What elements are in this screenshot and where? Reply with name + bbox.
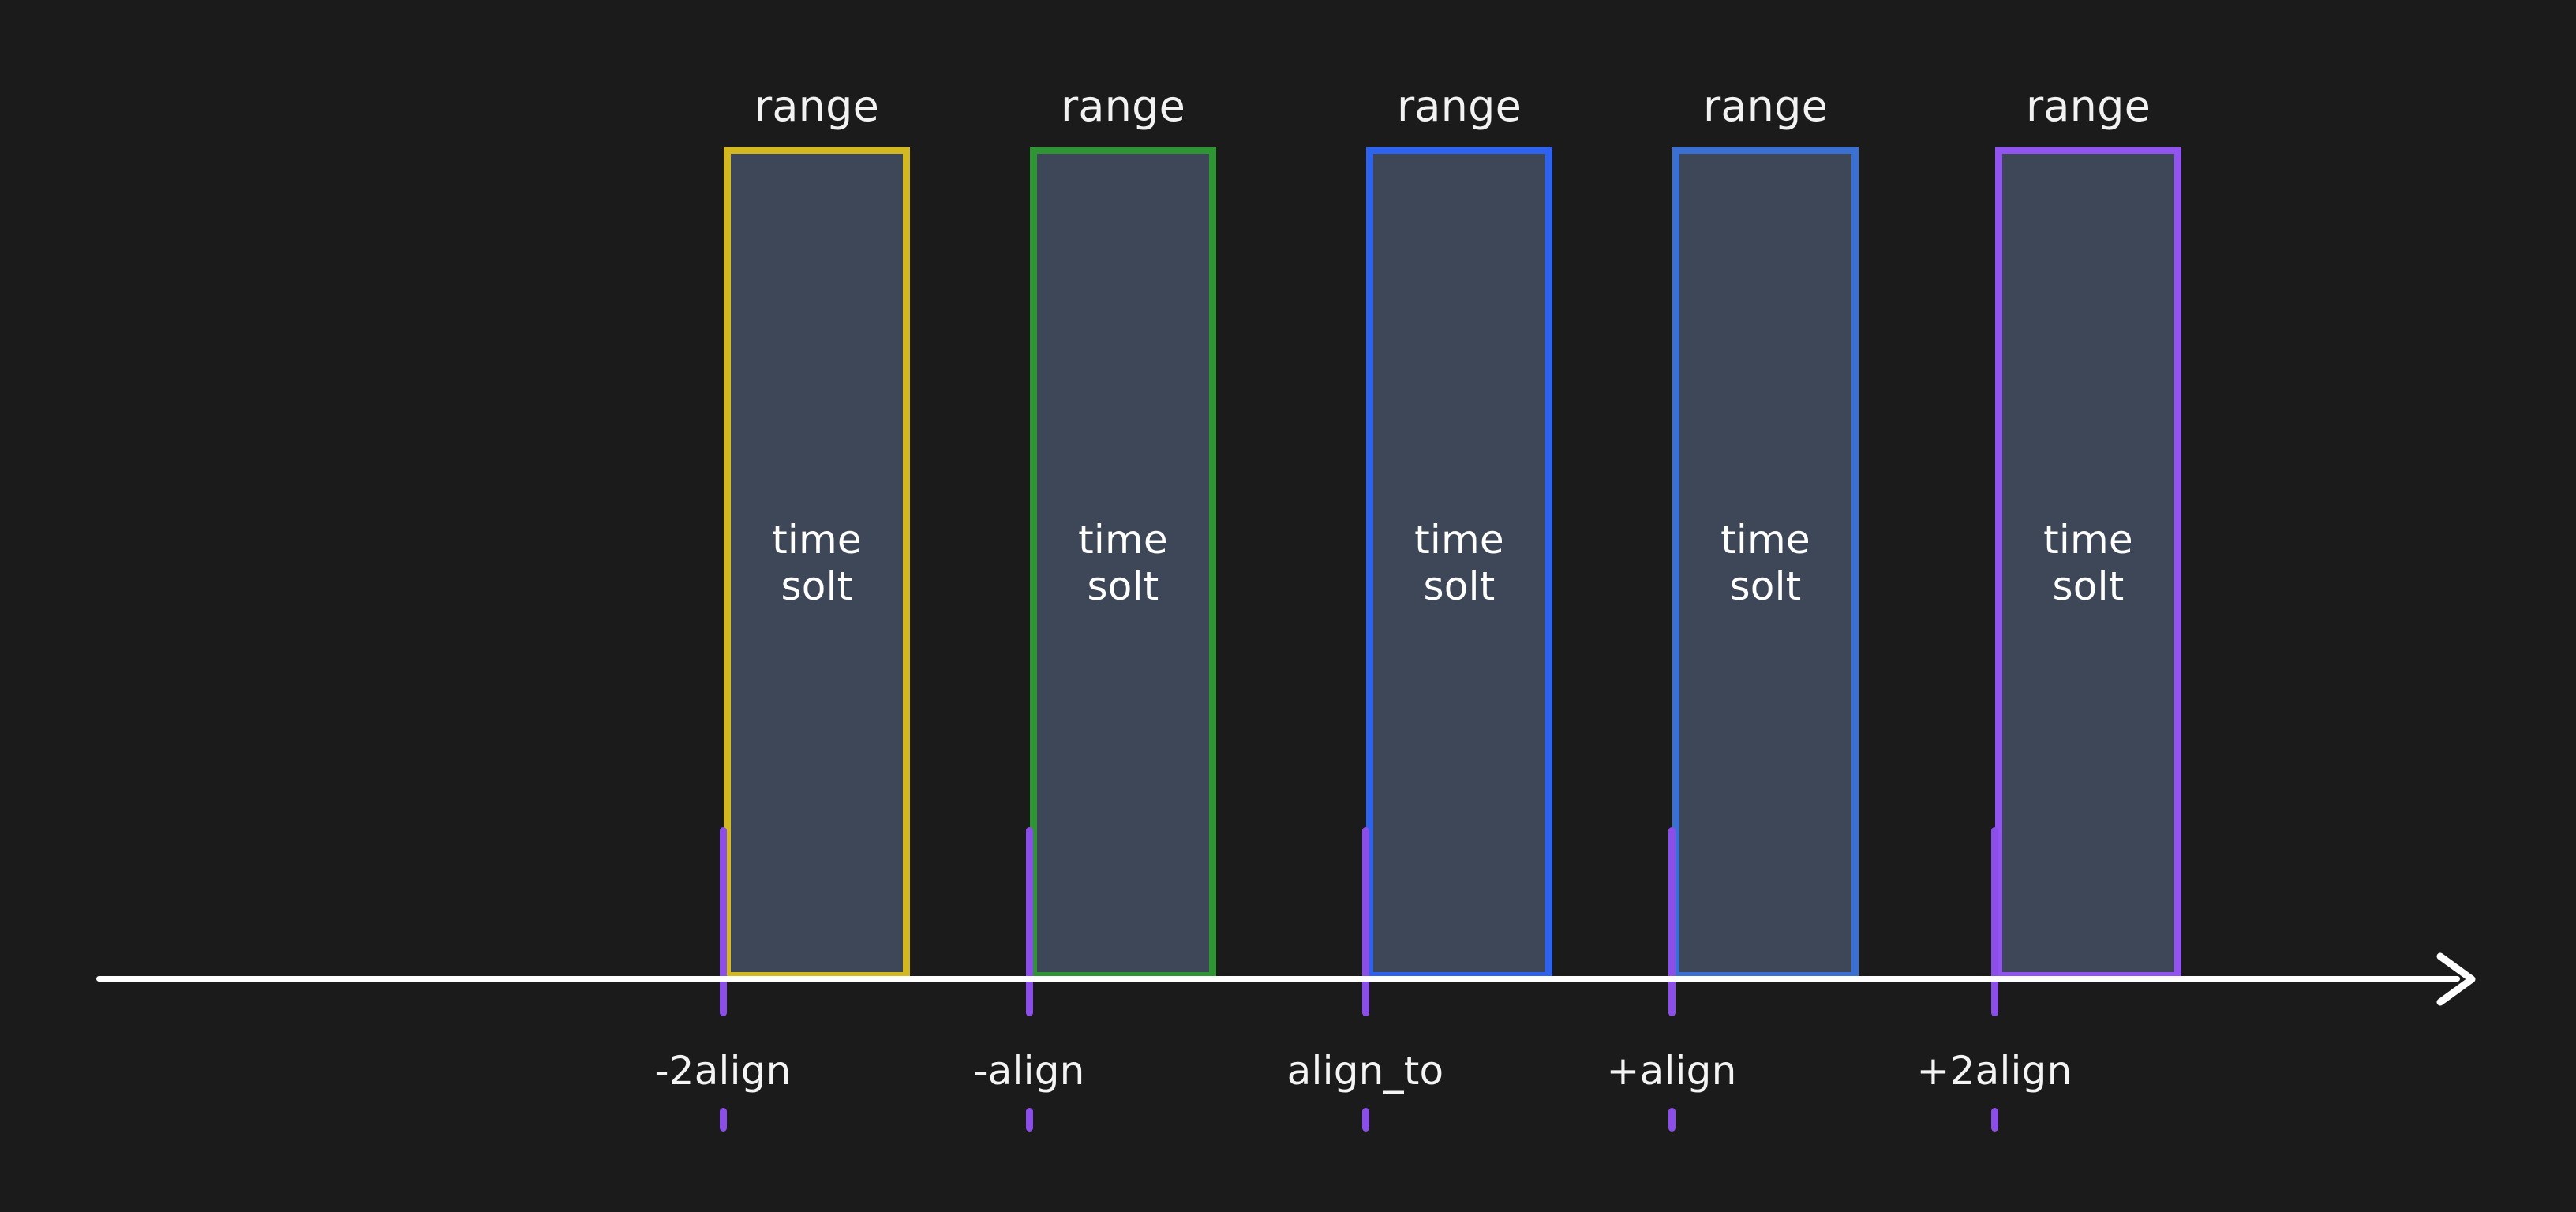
alignment-tick-label: -align bbox=[832, 1051, 1226, 1090]
alignment-tick bbox=[1991, 827, 1998, 1016]
alignment-tick-dash bbox=[1668, 1108, 1676, 1132]
alignment-tick-dash bbox=[1362, 1108, 1369, 1132]
alignment-tick-dash bbox=[1991, 1108, 1998, 1132]
time-slot-text: time solt bbox=[1679, 517, 1851, 610]
range-box[interactable]: time solt bbox=[1672, 147, 1859, 979]
range-box[interactable]: time solt bbox=[1366, 147, 1552, 979]
alignment-tick-dash bbox=[720, 1108, 727, 1132]
range-label: range bbox=[1301, 85, 1617, 128]
alignment-tick bbox=[1668, 827, 1676, 1016]
range-label: range bbox=[1608, 85, 1923, 128]
range-box[interactable]: time solt bbox=[1030, 147, 1216, 979]
alignment-tick-label: +2align bbox=[1797, 1051, 2192, 1090]
time-slot-text: time solt bbox=[1373, 517, 1545, 610]
range-label: range bbox=[1930, 85, 2246, 128]
range-label: range bbox=[965, 85, 1281, 128]
range-box[interactable]: time solt bbox=[724, 147, 910, 979]
alignment-tick-dash bbox=[1026, 1108, 1033, 1132]
alignment-tick bbox=[1362, 827, 1369, 1016]
diagram-canvas: rangetime solt-2alignrangetime solt-alig… bbox=[0, 0, 2576, 1212]
range-label: range bbox=[659, 85, 975, 128]
time-axis-line bbox=[96, 976, 2460, 982]
range-box[interactable]: time solt bbox=[1995, 147, 2181, 979]
time-slot-text: time solt bbox=[731, 517, 903, 610]
time-slot-text: time solt bbox=[2002, 517, 2174, 610]
alignment-tick bbox=[1026, 827, 1033, 1016]
time-slot-text: time solt bbox=[1037, 517, 1209, 610]
alignment-tick bbox=[720, 827, 727, 1016]
